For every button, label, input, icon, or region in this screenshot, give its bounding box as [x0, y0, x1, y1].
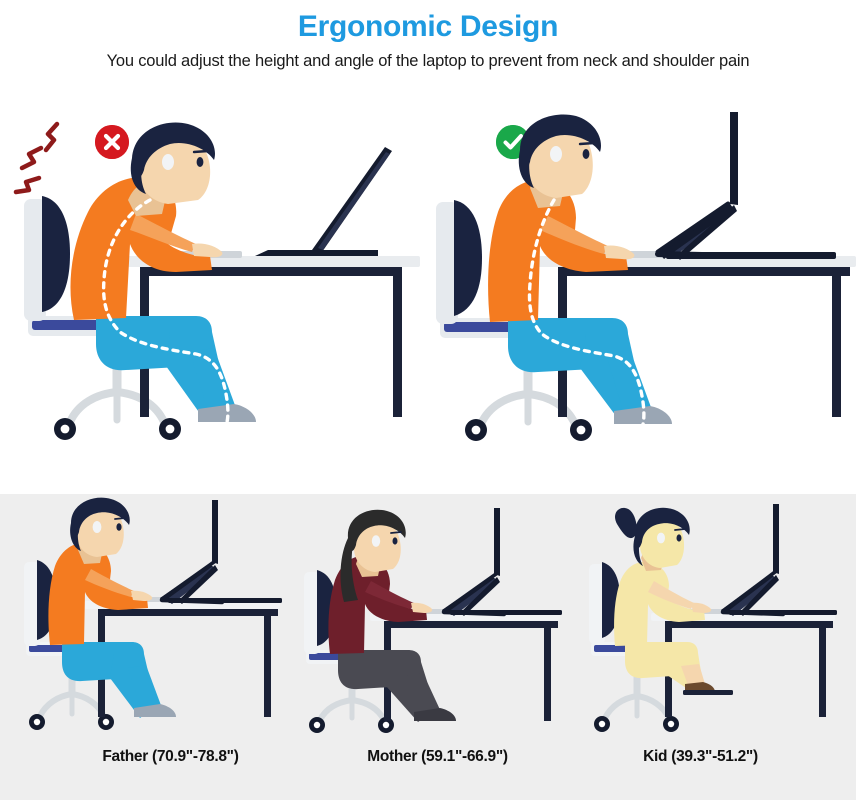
page-subtitle: You could adjust the height and angle of…	[0, 48, 856, 74]
size-label-kid: Kid (39.3"-51.2")	[558, 746, 843, 768]
size-figure-father	[10, 494, 295, 744]
person-hand	[192, 243, 222, 257]
good-posture-illustration	[428, 104, 856, 474]
size-comparison-panel: Father (70.9"-78.8") Mother (59.1"-66.9"…	[0, 494, 856, 800]
father-illustration	[10, 494, 295, 744]
person-head	[128, 122, 215, 216]
laptop-on-stand	[656, 112, 836, 260]
page-title: Ergonomic Design	[0, 8, 856, 46]
laptop-flat	[255, 147, 392, 256]
mother-illustration	[290, 494, 575, 744]
kid-illustration	[565, 494, 850, 744]
size-label-mother: Mother (59.1"-66.9")	[295, 746, 580, 768]
size-figure-mother	[290, 494, 575, 744]
person-hand	[604, 245, 634, 259]
bad-posture-scene	[0, 74, 428, 474]
pain-indicator	[16, 124, 57, 192]
page-header: Ergonomic Design You could adjust the he…	[0, 0, 856, 74]
bad-posture-illustration	[0, 104, 428, 474]
good-posture-scene	[428, 74, 856, 474]
person-legs	[508, 318, 672, 424]
size-labels-row: Father (70.9"-78.8") Mother (59.1"-66.9"…	[0, 746, 856, 776]
size-label-father: Father (70.9"-78.8")	[28, 746, 313, 768]
comparison-panel	[0, 74, 856, 474]
size-figure-kid	[565, 494, 850, 744]
